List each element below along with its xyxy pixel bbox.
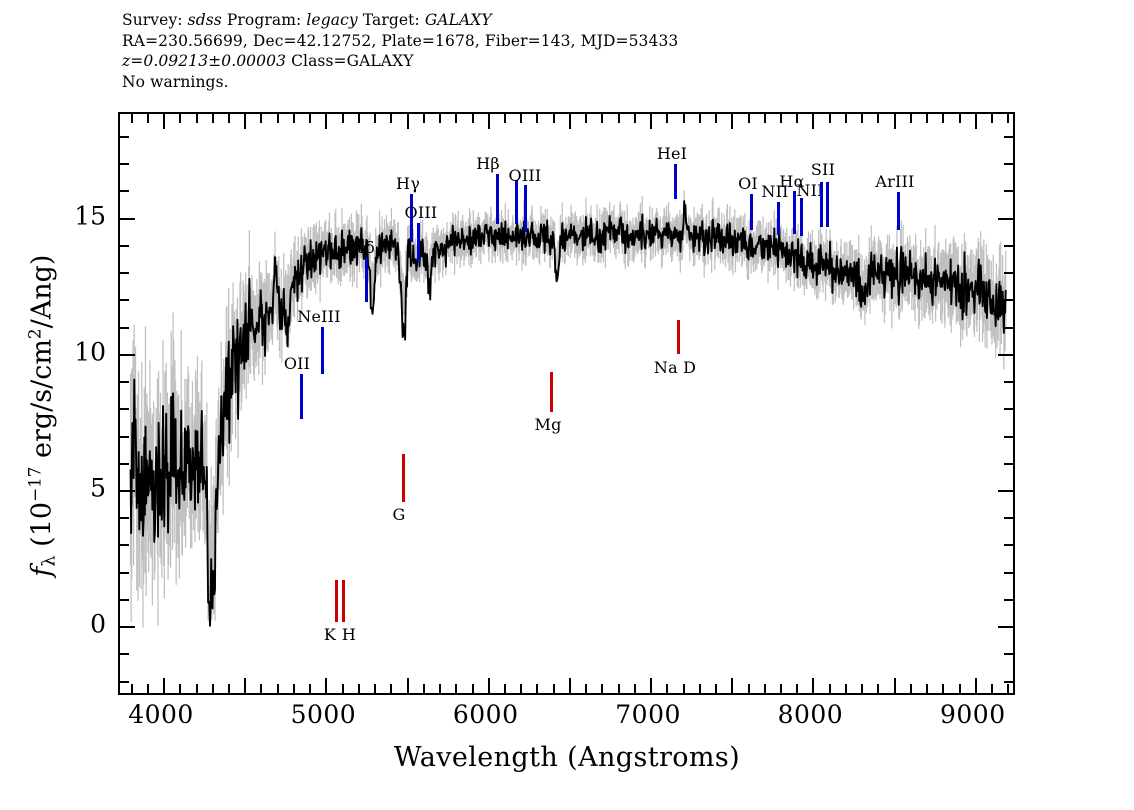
line-label-h: Hβ: [476, 154, 500, 173]
line-label-oiii: OIII: [405, 203, 438, 222]
y-axis-unit-close: /Ang): [27, 255, 58, 329]
line-label-nad: Na D: [654, 358, 696, 377]
flux-spectrum-line: [120, 114, 1013, 693]
line-label-sii: SII: [811, 160, 835, 179]
y-axis-unit-open: (10: [27, 502, 58, 555]
line-label-h: Hγ: [396, 174, 420, 193]
metadata-line-warnings: No warnings.: [122, 72, 1022, 93]
y-tick-label: 0: [90, 610, 106, 639]
target-value: GALAXY: [425, 11, 492, 29]
x-tick-label: 4000: [128, 700, 194, 729]
y-tick-label: 15: [74, 201, 106, 230]
spectrum-plot-frame: OIINeIIIKHHδGHγOIIIHβOIIIMgHeINa DOINIIH…: [118, 112, 1015, 695]
metadata-line-redshift: z=0.09213±0.00003 Class=GALAXY: [122, 51, 1022, 72]
y-axis-title: fλ (10−17 erg/s/cm2/Ang): [24, 136, 59, 696]
line-marker-h: [342, 580, 345, 622]
line-marker-hei: [674, 164, 677, 199]
line-marker-nii: [800, 198, 803, 236]
class-value: Class=GALAXY: [291, 52, 413, 70]
y-tick-label: 5: [90, 474, 106, 503]
spectrum-metadata-header: Survey: sdss Program: legacy Target: GAL…: [122, 10, 1022, 92]
survey-value: sdss: [188, 11, 222, 29]
y-axis-subscript: λ: [39, 555, 60, 566]
y-axis-exponent: −17: [24, 467, 44, 502]
x-tick-label: 9000: [940, 700, 1006, 729]
line-label-ariii: ArIII: [875, 172, 914, 191]
line-marker-neiii: [321, 327, 324, 374]
program-value: legacy: [306, 11, 357, 29]
y-axis-exponent-2: 2: [24, 328, 44, 339]
line-label-oiii: OIII: [509, 166, 542, 185]
line-marker-mg: [550, 372, 553, 412]
program-label: Program:: [227, 11, 301, 29]
line-label-mg: Mg: [534, 415, 561, 434]
line-marker-oiii: [417, 223, 420, 262]
x-tick-label: 6000: [453, 700, 519, 729]
line-marker-aux: [826, 182, 829, 227]
metadata-line-coordinates: RA=230.56699, Dec=42.12752, Plate=1678, …: [122, 31, 1022, 52]
line-label-k: K: [324, 625, 336, 644]
target-label: Target:: [363, 11, 420, 29]
line-marker-nad: [677, 320, 680, 354]
line-marker-oi: [750, 194, 753, 230]
line-label-oii: OII: [284, 354, 310, 373]
line-marker-k: [335, 580, 338, 622]
line-label-g: G: [393, 505, 406, 524]
line-label-h: H: [342, 625, 356, 644]
survey-label: Survey:: [122, 11, 183, 29]
line-label-hei: HeI: [657, 144, 687, 163]
metadata-line-survey: Survey: sdss Program: legacy Target: GAL…: [122, 10, 1022, 31]
y-axis-unit-mid: erg/s/cm: [27, 339, 58, 467]
line-marker-oii: [300, 374, 303, 419]
line-label-neiii: NeIII: [297, 307, 340, 326]
line-marker-aux: [524, 185, 527, 232]
x-tick-label: 7000: [615, 700, 681, 729]
x-tick-label: 8000: [778, 700, 844, 729]
redshift-value: z=0.09213±0.00003: [122, 52, 286, 70]
line-label-oi: OI: [738, 174, 758, 193]
line-label-h: Hδ: [351, 238, 375, 257]
y-tick-label: 10: [74, 337, 106, 366]
line-marker-oiii: [515, 180, 518, 224]
line-marker-sii: [820, 182, 823, 227]
spectrum-clip-region: [120, 114, 1013, 693]
x-tick-label: 5000: [291, 700, 357, 729]
line-marker-nii: [777, 202, 780, 235]
x-axis-title: Wavelength (Angstroms): [0, 742, 1134, 773]
y-axis-symbol: f: [27, 567, 58, 577]
line-marker-g: [402, 454, 405, 502]
line-marker-ariii: [897, 192, 900, 230]
line-marker-h: [365, 258, 368, 302]
line-marker-h: [496, 174, 499, 224]
